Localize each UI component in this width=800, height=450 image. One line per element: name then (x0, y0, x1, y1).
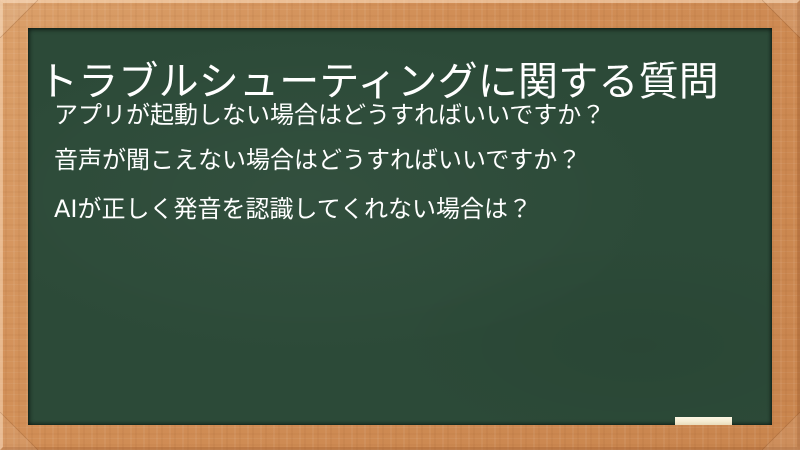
list-item: アプリが起動しない場合はどうすればいいですか？ (54, 100, 754, 131)
blackboard-slide: トラブルシューティングに関する質問 アプリが起動しない場合はどうすればいいですか… (0, 0, 800, 450)
list-item: AIが正しく発音を認識してくれない場合は？ (54, 194, 754, 225)
question-list: アプリが起動しない場合はどうすればいいですか？ 音声が聞こえない場合はどうすれば… (54, 100, 754, 244)
chalk-stick-icon (675, 417, 732, 425)
list-item: 音声が聞こえない場合はどうすればいいですか？ (54, 145, 754, 176)
chalkboard-surface: トラブルシューティングに関する質問 アプリが起動しない場合はどうすればいいですか… (28, 28, 772, 425)
